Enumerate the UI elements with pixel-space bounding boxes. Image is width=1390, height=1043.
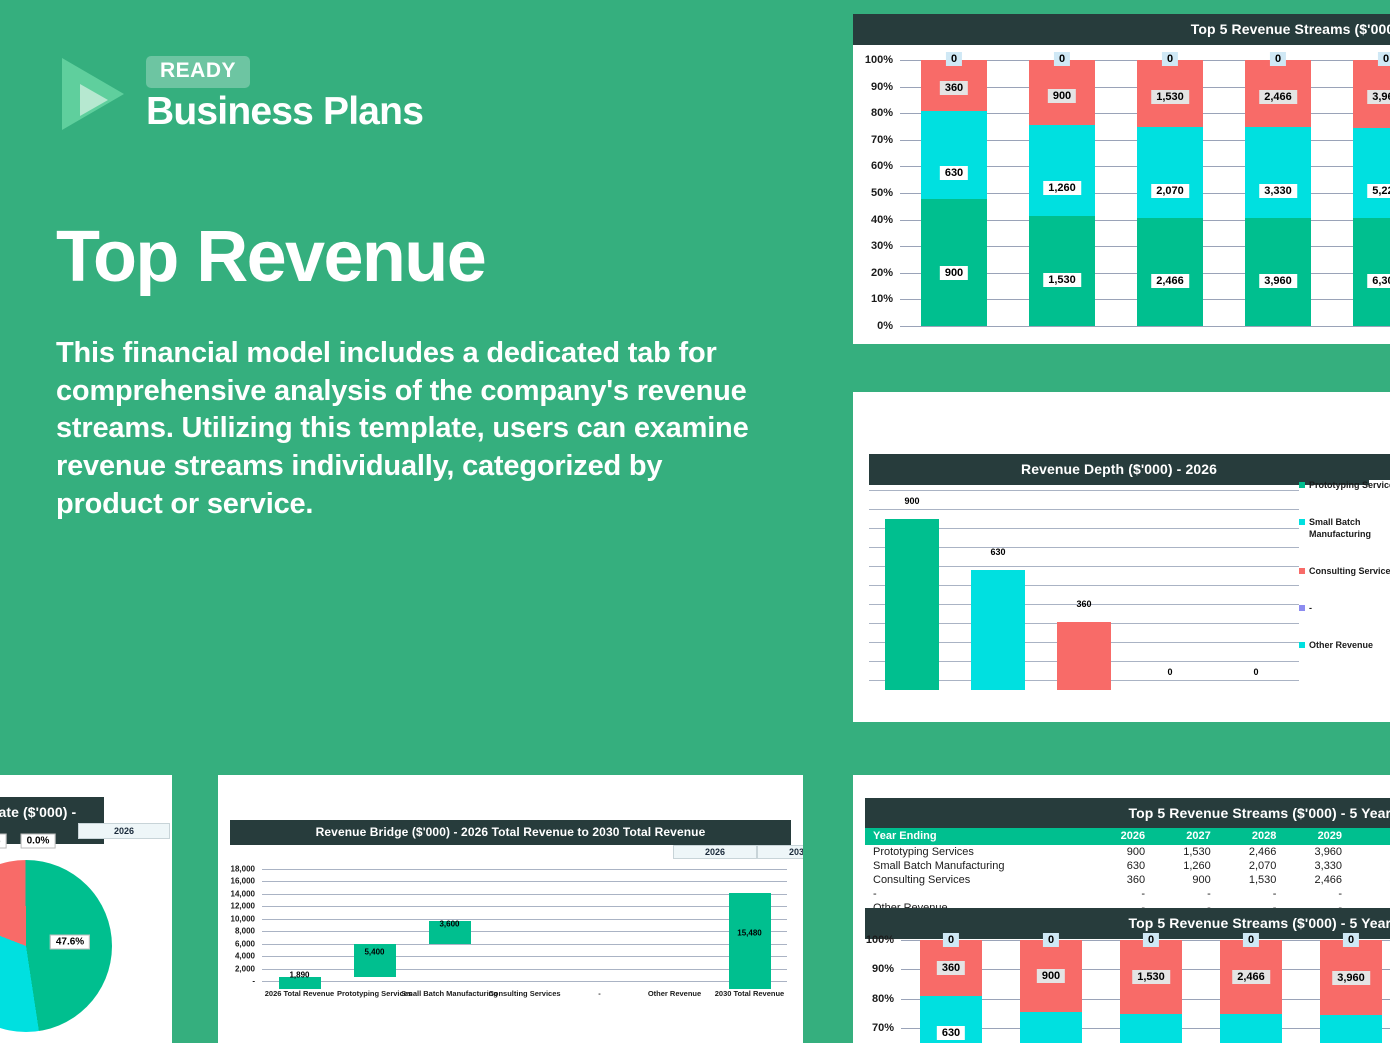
cell-1-0: Small Batch Manufacturing [865, 859, 1087, 873]
y-axis-tick: 100% [865, 54, 893, 66]
legend-swatch-icon [1299, 519, 1305, 525]
plot-area-revenue-bridge: -2,0004,0006,0008,00010,00012,00014,0001… [262, 869, 787, 989]
legend-item-3: - [1299, 603, 1390, 614]
waterfall-label-2: 3,600 [434, 919, 464, 930]
gridline [262, 944, 787, 945]
gridline [262, 906, 787, 907]
column-header-4: 2029 [1284, 828, 1350, 845]
gridline [262, 981, 787, 982]
brand-name: Business Plans [146, 92, 423, 133]
bridge-year-from-selector[interactable]: 2026 [673, 845, 757, 859]
data-label-consulting: 1,530 [1132, 970, 1170, 984]
cell-1-5: 5,220 [1350, 859, 1390, 873]
page-description: This financial model includes a dedicate… [56, 335, 766, 523]
data-label-other: 0 [1162, 52, 1178, 66]
x-axis-label-0: 2026 Total Revenue [265, 989, 334, 998]
x-axis-label-4: - [598, 989, 601, 998]
data-label-consulting: 3,960 [1332, 971, 1370, 985]
y-axis-tick: 70% [872, 1022, 894, 1034]
data-label-other: 0 [1143, 933, 1159, 947]
x-axis-label-5: Other Revenue [648, 989, 701, 998]
cell-0-0: Prototyping Services [865, 845, 1087, 859]
page-title: Top Revenue [56, 221, 816, 293]
data-label-prototyping: 1,530 [1043, 273, 1081, 287]
data-label-other: 0 [1270, 52, 1286, 66]
brand-logo: READY Business Plans [56, 52, 816, 133]
data-label-other: 0 [1054, 52, 1070, 66]
data-label-consulting: 3,960 [1367, 90, 1390, 104]
waterfall-label-0: 1,890 [284, 970, 314, 981]
bar-segment-small-batch [1220, 1014, 1282, 1043]
bar-0 [885, 519, 938, 690]
bar-segment-small-batch [1120, 1014, 1182, 1043]
y-axis-tick: 80% [871, 107, 893, 119]
y-axis-tick: 30% [871, 240, 893, 252]
data-label-small-batch: 2,070 [1151, 184, 1189, 198]
revenue-depth-panel: Revenue Depth ($'000) - 2026 90063036000… [853, 392, 1390, 722]
y-axis-tick: 50% [871, 187, 893, 199]
data-label-bar-2: 360 [1071, 598, 1096, 610]
data-label-other: 0 [1378, 52, 1390, 66]
cell-3-1: - [1087, 887, 1153, 901]
data-label-small-batch: 5,220 [1367, 184, 1390, 198]
column-header-2: 2027 [1153, 828, 1219, 845]
cell-1-2: 1,260 [1153, 859, 1219, 873]
top5-table-panel: Top 5 Revenue Streams ($'000) - 5 Years … [853, 775, 1390, 1043]
y-axis-tick: 8,000 [235, 927, 255, 936]
data-label-small-batch: 1,260 [1043, 181, 1081, 195]
bar-segment-small-batch [1353, 128, 1390, 218]
cell-2-5: 3,960 [1350, 873, 1390, 887]
bar-2 [1057, 622, 1110, 690]
legend-label: - [1309, 603, 1312, 614]
table-row: Consulting Services3609001,5302,4663,960 [865, 873, 1390, 887]
gridline [262, 869, 787, 870]
cell-2-2: 900 [1153, 873, 1219, 887]
table-row: Prototyping Services9001,5302,4663,9606,… [865, 845, 1390, 859]
gridline [869, 509, 1299, 510]
cell-1-3: 2,070 [1219, 859, 1285, 873]
data-label-other: 0 [943, 933, 959, 947]
waterfall-label-1: 5,400 [359, 947, 389, 958]
cell-0-4: 3,960 [1284, 845, 1350, 859]
bar-segment-small-batch [1320, 1015, 1382, 1043]
plot-area-top5-stacked: 0%10%20%30%40%50%60%70%80%90%100%9006303… [900, 60, 1390, 326]
bar-segment-small-batch [1137, 127, 1204, 218]
legend-label: Consulting Services [1309, 566, 1390, 577]
y-axis-tick: 60% [871, 160, 893, 172]
legend-swatch-icon [1299, 568, 1305, 574]
cell-0-5: 6,300 [1350, 845, 1390, 859]
plot-area-top5-stacked-small: 70%80%90%100%360063090001,53002,46603,96… [901, 940, 1390, 1043]
pie-year-selector[interactable]: 2026 [78, 823, 170, 839]
bar-1 [971, 570, 1024, 690]
cell-3-3: - [1219, 887, 1285, 901]
gridline [262, 956, 787, 957]
data-label-consulting: 360 [937, 961, 965, 975]
table-header-row: Year Ending20262027202820292030 [865, 828, 1390, 845]
legend-label: Other Revenue [1309, 640, 1373, 651]
pie-label-4: 0.0% [21, 834, 56, 849]
y-axis-tick: 20% [871, 267, 893, 279]
waterfall-label-6: 15,480 [732, 927, 766, 938]
cell-2-1: 360 [1087, 873, 1153, 887]
data-label-other: 0 [1243, 933, 1259, 947]
bar-segment-small-batch [1029, 125, 1096, 216]
legend-swatch-icon [1299, 605, 1305, 611]
ready-badge: READY [146, 56, 250, 88]
data-label-bar-3: 0 [1162, 666, 1177, 678]
y-axis-tick: 100% [866, 934, 894, 946]
gridline [262, 894, 787, 895]
chart-title-revenue-bridge: Revenue Bridge ($'000) - 2026 Total Reve… [230, 820, 791, 845]
y-axis-tick: 70% [871, 134, 893, 146]
cell-3-5: - [1350, 887, 1390, 901]
cell-0-1: 900 [1087, 845, 1153, 859]
bar-segment-small-batch [921, 111, 988, 200]
y-axis-tick: 4,000 [235, 952, 255, 961]
y-axis-tick: 2,000 [235, 964, 255, 973]
data-label-bar-1: 630 [985, 546, 1010, 558]
legend-item-0: Prototyping Services [1299, 480, 1390, 491]
revenue-bridge-panel: Revenue Bridge ($'000) - 2026 Total Reve… [218, 775, 803, 1043]
cell-3-0: - [865, 887, 1087, 901]
data-label-consulting: 2,466 [1232, 970, 1270, 984]
bridge-year-to-selector[interactable]: 2030 [757, 845, 803, 859]
bar-segment-prototyping [1245, 218, 1312, 326]
data-label-prototyping: 3,960 [1259, 274, 1297, 288]
data-label-consulting: 900 [1048, 89, 1076, 103]
data-label-consulting: 900 [1037, 969, 1065, 983]
pie-label-3: 0.0% [0, 834, 6, 849]
legend-revenue-depth: Prototyping ServicesSmall Batch Manufact… [1299, 480, 1390, 678]
cell-1-4: 3,330 [1284, 859, 1350, 873]
data-label-small-batch: 3,330 [1259, 184, 1297, 198]
y-axis-tick: 12,000 [231, 902, 255, 911]
gridline [262, 931, 787, 932]
plot-area-revenue-depth: 90063036000 [869, 490, 1299, 690]
table-row: Small Batch Manufacturing6301,2602,0703,… [865, 859, 1390, 873]
bar-segment-prototyping [1137, 218, 1204, 326]
gridline [900, 326, 1390, 327]
y-axis-tick: - [252, 977, 255, 986]
data-label-prototyping: 900 [940, 266, 968, 280]
data-label-bar-0: 900 [899, 495, 924, 507]
cell-0-3: 2,466 [1219, 845, 1285, 859]
gridline [869, 490, 1299, 491]
hero-section: READY Business Plans Top Revenue This fi… [56, 52, 816, 523]
data-label-prototyping: 2,466 [1151, 274, 1189, 288]
top5-stacked-chart-panel: Top 5 Revenue Streams ($'000) 0%10%20%30… [853, 14, 1390, 344]
table-row: ------ [865, 887, 1390, 901]
data-label-consulting: 360 [940, 81, 968, 95]
cell-2-4: 2,466 [1284, 873, 1350, 887]
pie-label-0: 47.6% [50, 935, 90, 950]
y-axis-tick: 0% [877, 320, 893, 332]
y-axis-tick: 6,000 [235, 939, 255, 948]
cell-3-4: - [1284, 887, 1350, 901]
gridline [262, 969, 787, 970]
legend-item-2: Consulting Services [1299, 566, 1390, 577]
data-label-small-batch: 630 [937, 1026, 965, 1040]
y-axis-tick: 90% [871, 81, 893, 93]
waterfall-bar-6 [729, 893, 771, 989]
bar-segment-small-batch [1245, 127, 1312, 218]
chart-title-spacer [1282, 454, 1390, 480]
chart-title-top5-table: Top 5 Revenue Streams ($'000) - 5 Years [865, 798, 1390, 829]
legend-item-4: Other Revenue [1299, 640, 1390, 651]
data-label-other: 0 [1343, 933, 1359, 947]
legend-item-1: Small Batch Manufacturing [1299, 517, 1390, 540]
bar-segment-prototyping [1029, 216, 1096, 326]
y-axis-tick: 16,000 [231, 877, 255, 886]
gridline [262, 919, 787, 920]
x-axis-label-3: Consulting Services [488, 989, 560, 998]
column-header-5: 2030 [1350, 828, 1390, 845]
bar-segment-prototyping [1353, 218, 1390, 326]
cell-2-0: Consulting Services [865, 873, 1087, 887]
legend-swatch-icon [1299, 482, 1305, 488]
y-axis-tick: 14,000 [231, 889, 255, 898]
x-axis-label-2: Small Batch Manufacturing [401, 989, 498, 998]
gridline [262, 881, 787, 882]
y-axis-tick: 10,000 [231, 914, 255, 923]
data-label-consulting: 2,466 [1259, 90, 1297, 104]
cell-3-2: - [1153, 887, 1219, 901]
play-triangle-logo-icon [56, 56, 132, 132]
x-axis-label-6: 2030 Total Revenue [715, 989, 784, 998]
y-axis-tick: 90% [872, 963, 894, 975]
run-rate-pie-panel: Run-Rate ($'000) - 2026 2026 47.6%33.3%1… [0, 775, 172, 1043]
cell-2-3: 1,530 [1219, 873, 1285, 887]
bar-segment-prototyping [921, 199, 988, 326]
cell-0-2: 1,530 [1153, 845, 1219, 859]
data-label-prototyping: 6,300 [1367, 274, 1390, 288]
pie-chart-area: 47.6%33.3%19.0%0.0%0.0% [0, 860, 162, 1032]
column-header-0: Year Ending [865, 828, 1087, 845]
legend-swatch-icon [1299, 642, 1305, 648]
y-axis-tick: 18,000 [231, 865, 255, 874]
legend-label: Prototyping Services [1309, 480, 1390, 491]
data-label-bar-4: 0 [1248, 666, 1263, 678]
data-label-consulting: 1,530 [1151, 90, 1189, 104]
y-axis-tick: 10% [871, 293, 893, 305]
column-header-1: 2026 [1087, 828, 1153, 845]
bar-segment-small-batch [1020, 1012, 1082, 1043]
data-label-small-batch: 630 [940, 166, 968, 180]
chart-title-top5-stacked: Top 5 Revenue Streams ($'000) [853, 14, 1390, 45]
y-axis-tick: 80% [872, 993, 894, 1005]
y-axis-tick: 40% [871, 214, 893, 226]
data-label-other: 0 [946, 52, 962, 66]
data-label-other: 0 [1043, 933, 1059, 947]
legend-label: Small Batch Manufacturing [1309, 517, 1390, 540]
column-header-3: 2028 [1219, 828, 1285, 845]
cell-1-1: 630 [1087, 859, 1153, 873]
